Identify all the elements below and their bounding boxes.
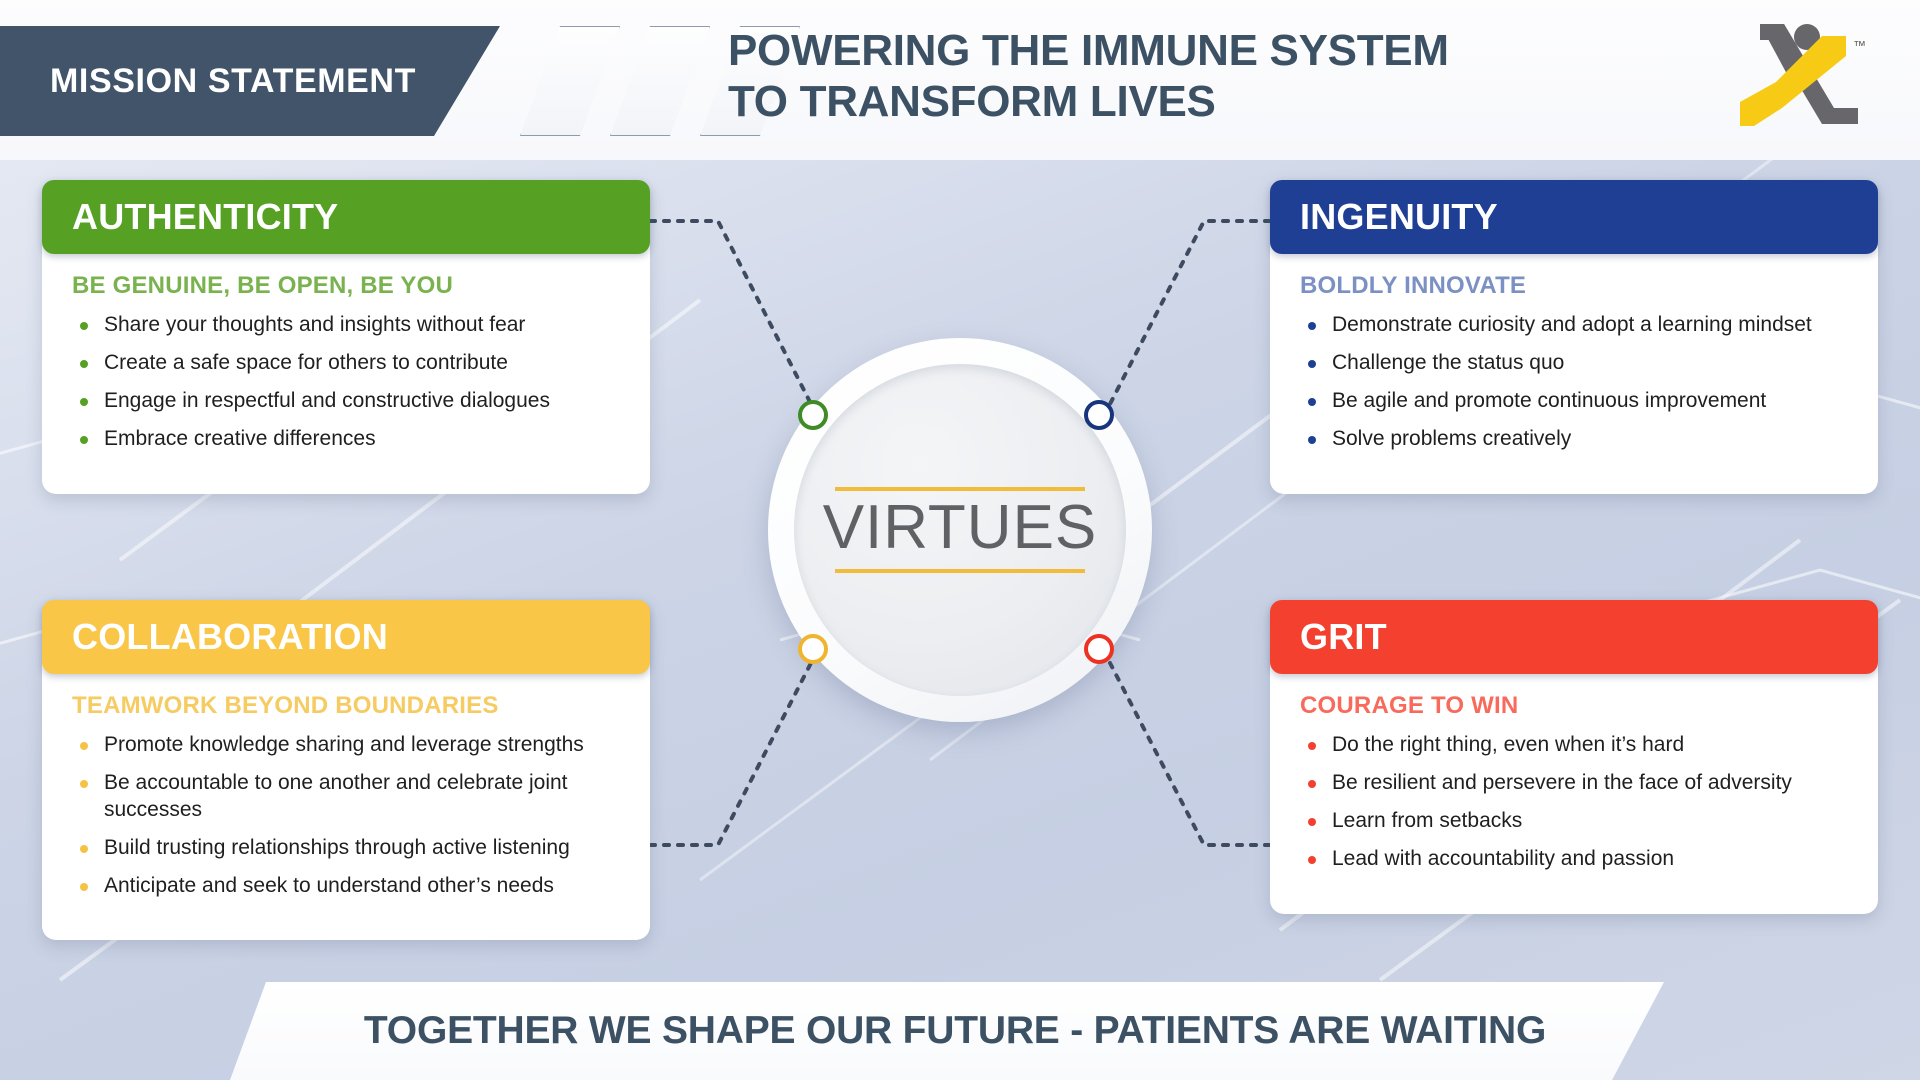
virtue-card-grit[interactable]: GRIT COURAGE TO WIN Do the right thing, … xyxy=(1270,600,1878,914)
virtues-hub: VIRTUES xyxy=(768,338,1152,722)
card-points-ingenuity: Demonstrate curiosity and adopt a learni… xyxy=(1300,312,1852,453)
hub-node-grit[interactable] xyxy=(1084,634,1114,664)
virtue-card-authenticity[interactable]: AUTHENTICITY BE GENUINE, BE OPEN, BE YOU… xyxy=(42,180,650,494)
hub-label: VIRTUES xyxy=(823,491,1098,569)
card-header-collaboration: COLLABORATION xyxy=(42,600,650,674)
list-item: Lead with accountability and passion xyxy=(1300,846,1852,873)
card-title-grit: GRIT xyxy=(1270,616,1387,658)
card-body-grit: COURAGE TO WIN Do the right thing, even … xyxy=(1270,674,1878,914)
card-subtitle-ingenuity: BOLDLY INNOVATE xyxy=(1300,272,1852,300)
list-item: Challenge the status quo xyxy=(1300,350,1852,377)
trademark-symbol: ™ xyxy=(1853,38,1866,53)
page-title-line-2: TO TRANSFORM LIVES xyxy=(728,77,1728,128)
mission-statement-label: MISSION STATEMENT xyxy=(0,62,416,101)
hub-inner-disc: VIRTUES xyxy=(794,364,1126,696)
page-header: MISSION STATEMENT POWERING THE IMMUNE SY… xyxy=(0,0,1920,160)
footer-text: TOGETHER WE SHAPE OUR FUTURE - PATIENTS … xyxy=(364,1009,1546,1053)
list-item: Build trusting relationships through act… xyxy=(72,835,624,862)
footer-banner: TOGETHER WE SHAPE OUR FUTURE - PATIENTS … xyxy=(230,982,1700,1080)
infographic-canvas: MISSION STATEMENT POWERING THE IMMUNE SY… xyxy=(0,0,1920,1080)
card-points-grit: Do the right thing, even when it’s hard … xyxy=(1300,732,1852,873)
card-points-collaboration: Promote knowledge sharing and leverage s… xyxy=(72,732,624,899)
list-item: Solve problems creatively xyxy=(1300,426,1852,453)
hub-node-ingenuity[interactable] xyxy=(1084,400,1114,430)
list-item: Be resilient and persevere in the face o… xyxy=(1300,770,1852,797)
page-title-line-1: POWERING THE IMMUNE SYSTEM xyxy=(728,26,1449,75)
list-item: Engage in respectful and constructive di… xyxy=(72,388,624,415)
list-item: Embrace creative differences xyxy=(72,426,624,453)
list-item: Be agile and promote continuous improvem… xyxy=(1300,388,1852,415)
hub-node-authenticity[interactable] xyxy=(798,400,828,430)
list-item: Share your thoughts and insights without… xyxy=(72,312,624,339)
list-item: Create a safe space for others to contri… xyxy=(72,350,624,377)
card-title-collaboration: COLLABORATION xyxy=(42,616,388,658)
card-body-authenticity: BE GENUINE, BE OPEN, BE YOU Share your t… xyxy=(42,254,650,494)
virtue-card-collaboration[interactable]: COLLABORATION TEAMWORK BEYOND BOUNDARIES… xyxy=(42,600,650,940)
hub-node-collaboration[interactable] xyxy=(798,634,828,664)
list-item: Anticipate and seek to understand other’… xyxy=(72,873,624,900)
card-body-ingenuity: BOLDLY INNOVATE Demonstrate curiosity an… xyxy=(1270,254,1878,494)
virtue-card-ingenuity[interactable]: INGENUITY BOLDLY INNOVATE Demonstrate cu… xyxy=(1270,180,1878,494)
page-title: POWERING THE IMMUNE SYSTEM TO TRANSFORM … xyxy=(728,26,1728,127)
list-item: Learn from setbacks xyxy=(1300,808,1852,835)
list-item: Demonstrate curiosity and adopt a learni… xyxy=(1300,312,1852,339)
list-item: Promote knowledge sharing and leverage s… xyxy=(72,732,624,759)
card-title-ingenuity: INGENUITY xyxy=(1270,196,1498,238)
card-subtitle-grit: COURAGE TO WIN xyxy=(1300,692,1852,720)
list-item: Do the right thing, even when it’s hard xyxy=(1300,732,1852,759)
card-header-grit: GRIT xyxy=(1270,600,1878,674)
card-header-authenticity: AUTHENTICITY xyxy=(42,180,650,254)
card-subtitle-collaboration: TEAMWORK BEYOND BOUNDARIES xyxy=(72,692,624,720)
hub-rule-bottom xyxy=(835,569,1085,573)
card-header-ingenuity: INGENUITY xyxy=(1270,180,1878,254)
list-item: Be accountable to one another and celebr… xyxy=(72,770,624,824)
company-logo: ™ xyxy=(1718,16,1868,146)
card-title-authenticity: AUTHENTICITY xyxy=(42,196,338,238)
card-points-authenticity: Share your thoughts and insights without… xyxy=(72,312,624,453)
card-subtitle-authenticity: BE GENUINE, BE OPEN, BE YOU xyxy=(72,272,624,300)
card-body-collaboration: TEAMWORK BEYOND BOUNDARIES Promote knowl… xyxy=(42,674,650,940)
